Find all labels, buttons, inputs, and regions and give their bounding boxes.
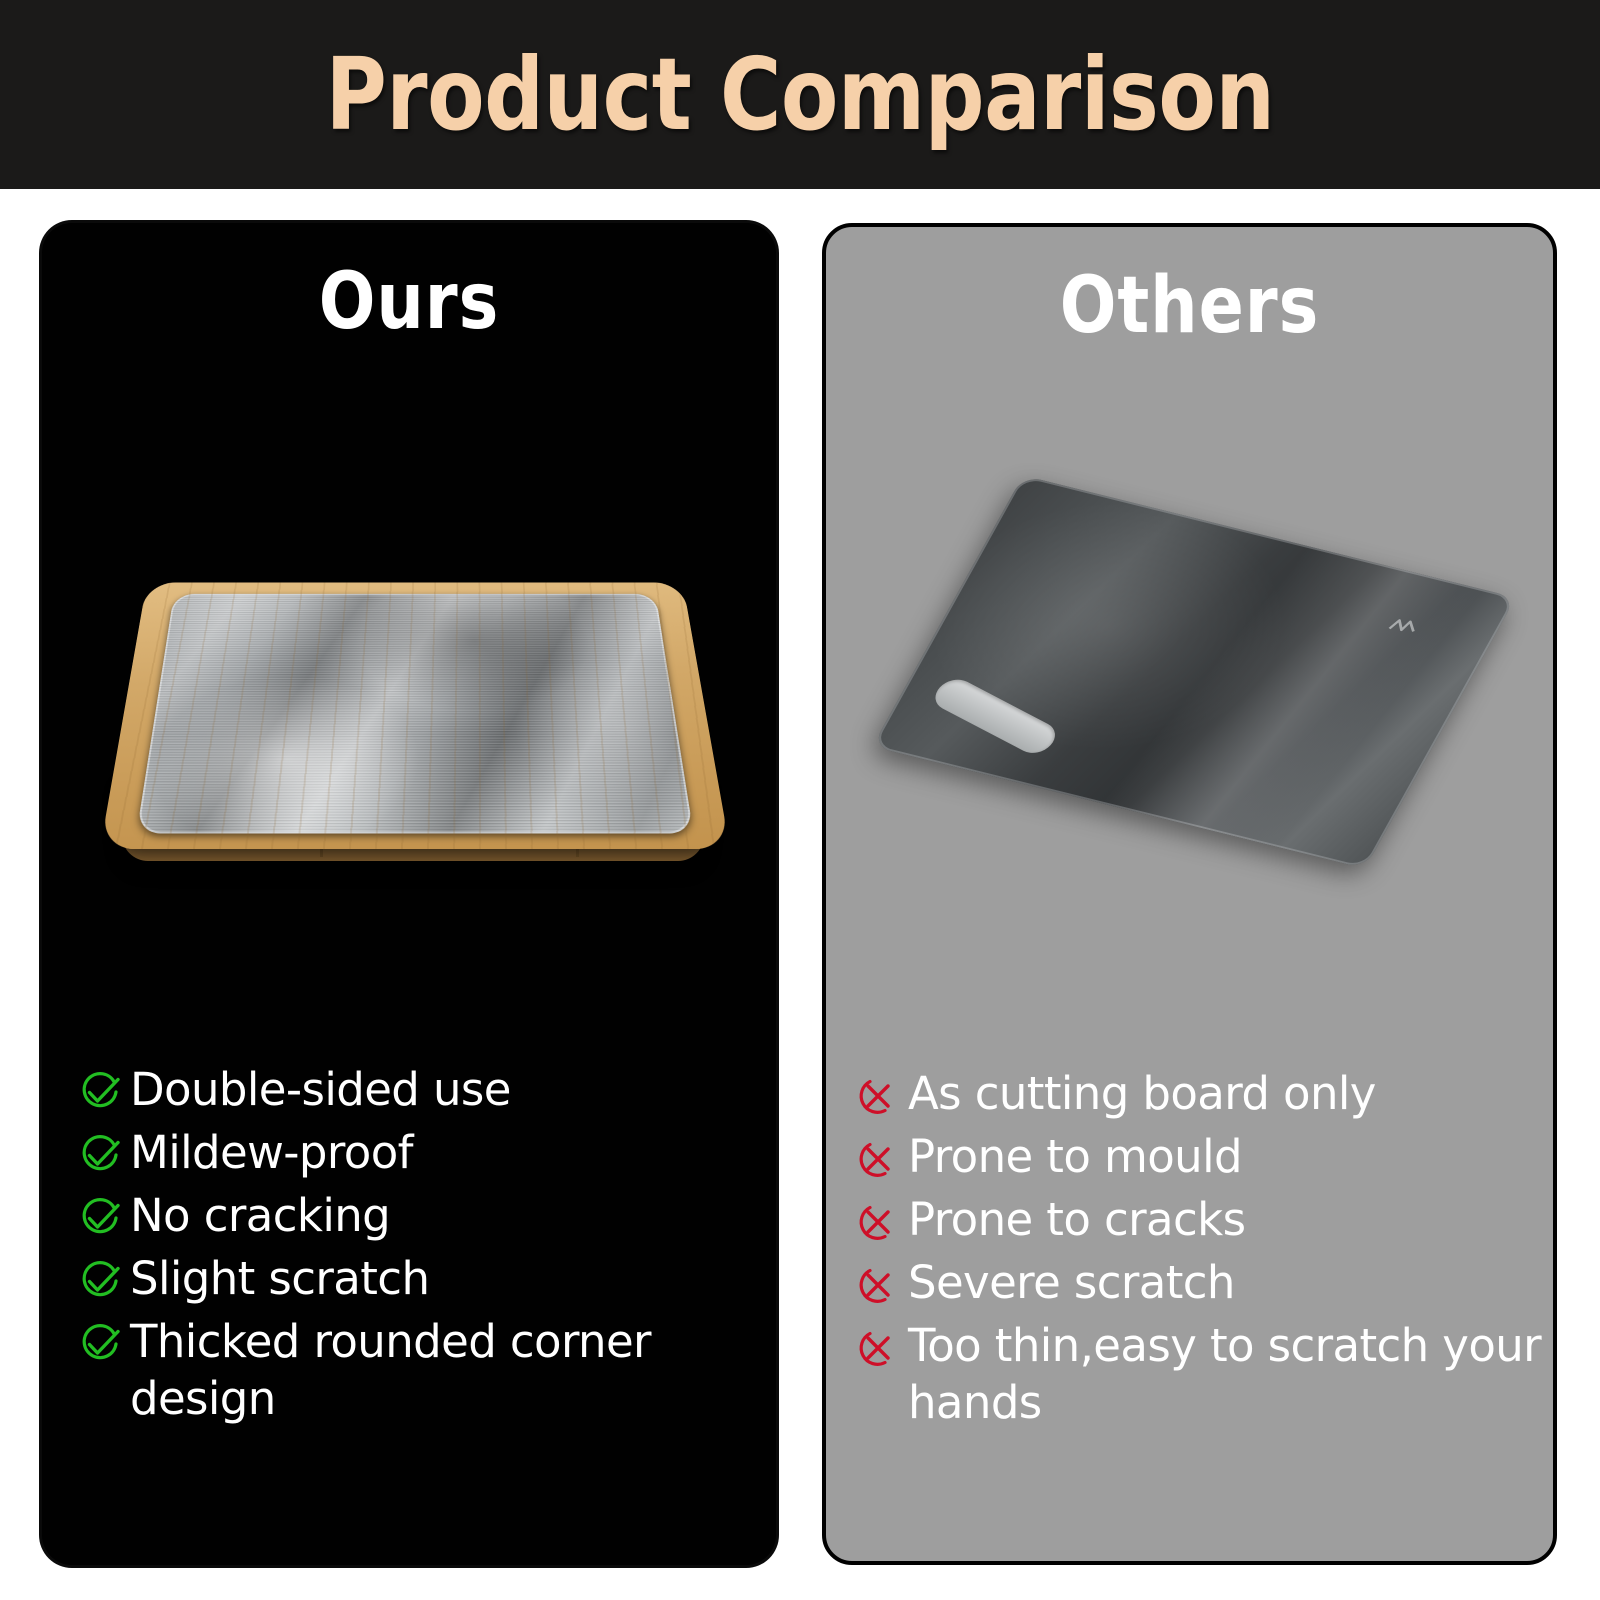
check-circle-icon <box>78 1070 122 1114</box>
list-item: Thicked rounded corner design <box>78 1313 762 1427</box>
thin-steel-sheet <box>836 477 1536 897</box>
list-item: Prone to cracks <box>856 1191 1543 1248</box>
feature-list-others: As cutting board only Prone to mould <box>826 1065 1553 1437</box>
list-item: No cracking <box>78 1187 762 1244</box>
check-circle-icon <box>78 1322 122 1366</box>
feature-list-ours: Double-sided use Mildew-proof <box>42 1061 776 1433</box>
list-item: Slight scratch <box>78 1250 762 1307</box>
x-circle-icon <box>856 1137 900 1181</box>
feature-label: Prone to mould <box>908 1128 1242 1185</box>
panel-others: Others <box>822 223 1557 1565</box>
x-circle-icon <box>856 1074 900 1118</box>
feature-label: Double-sided use <box>130 1061 511 1118</box>
check-circle-icon <box>78 1259 122 1303</box>
product-image-others <box>826 477 1553 907</box>
sheet-body <box>872 475 1516 868</box>
list-item: Too thin,easy to scratch your hands <box>856 1317 1543 1431</box>
sheet-reflection <box>872 475 1516 868</box>
feature-label: Slight scratch <box>130 1250 429 1307</box>
comparison-infographic: Product Comparison Ours Dou <box>0 0 1600 1600</box>
feature-label: As cutting board only <box>908 1065 1376 1122</box>
check-circle-icon <box>78 1133 122 1177</box>
feature-label: Severe scratch <box>908 1254 1235 1311</box>
feature-label: No cracking <box>130 1187 390 1244</box>
panel-ours-heading: Ours <box>60 257 757 347</box>
feature-label: Too thin,easy to scratch your hands <box>908 1317 1543 1431</box>
list-item: Severe scratch <box>856 1254 1543 1311</box>
feature-label: Thicked rounded corner design <box>130 1313 762 1427</box>
list-item: Mildew-proof <box>78 1124 762 1181</box>
page-title: Product Comparison <box>56 0 1544 189</box>
x-circle-icon <box>856 1326 900 1370</box>
x-circle-icon <box>856 1200 900 1244</box>
product-image-ours <box>42 501 776 921</box>
list-item: Double-sided use <box>78 1061 762 1118</box>
feature-label: Prone to cracks <box>908 1191 1245 1248</box>
feature-label: Mildew-proof <box>130 1124 413 1181</box>
x-circle-icon <box>856 1263 900 1307</box>
stainless-steel-inlay <box>136 594 693 834</box>
list-item: As cutting board only <box>856 1065 1543 1122</box>
list-item: Prone to mould <box>856 1128 1543 1185</box>
bamboo-steel-board <box>60 511 760 911</box>
check-circle-icon <box>78 1196 122 1240</box>
panel-ours: Ours Double-sided use <box>42 223 776 1565</box>
panel-others-heading: Others <box>844 261 1535 351</box>
bamboo-board-surface <box>100 582 730 849</box>
